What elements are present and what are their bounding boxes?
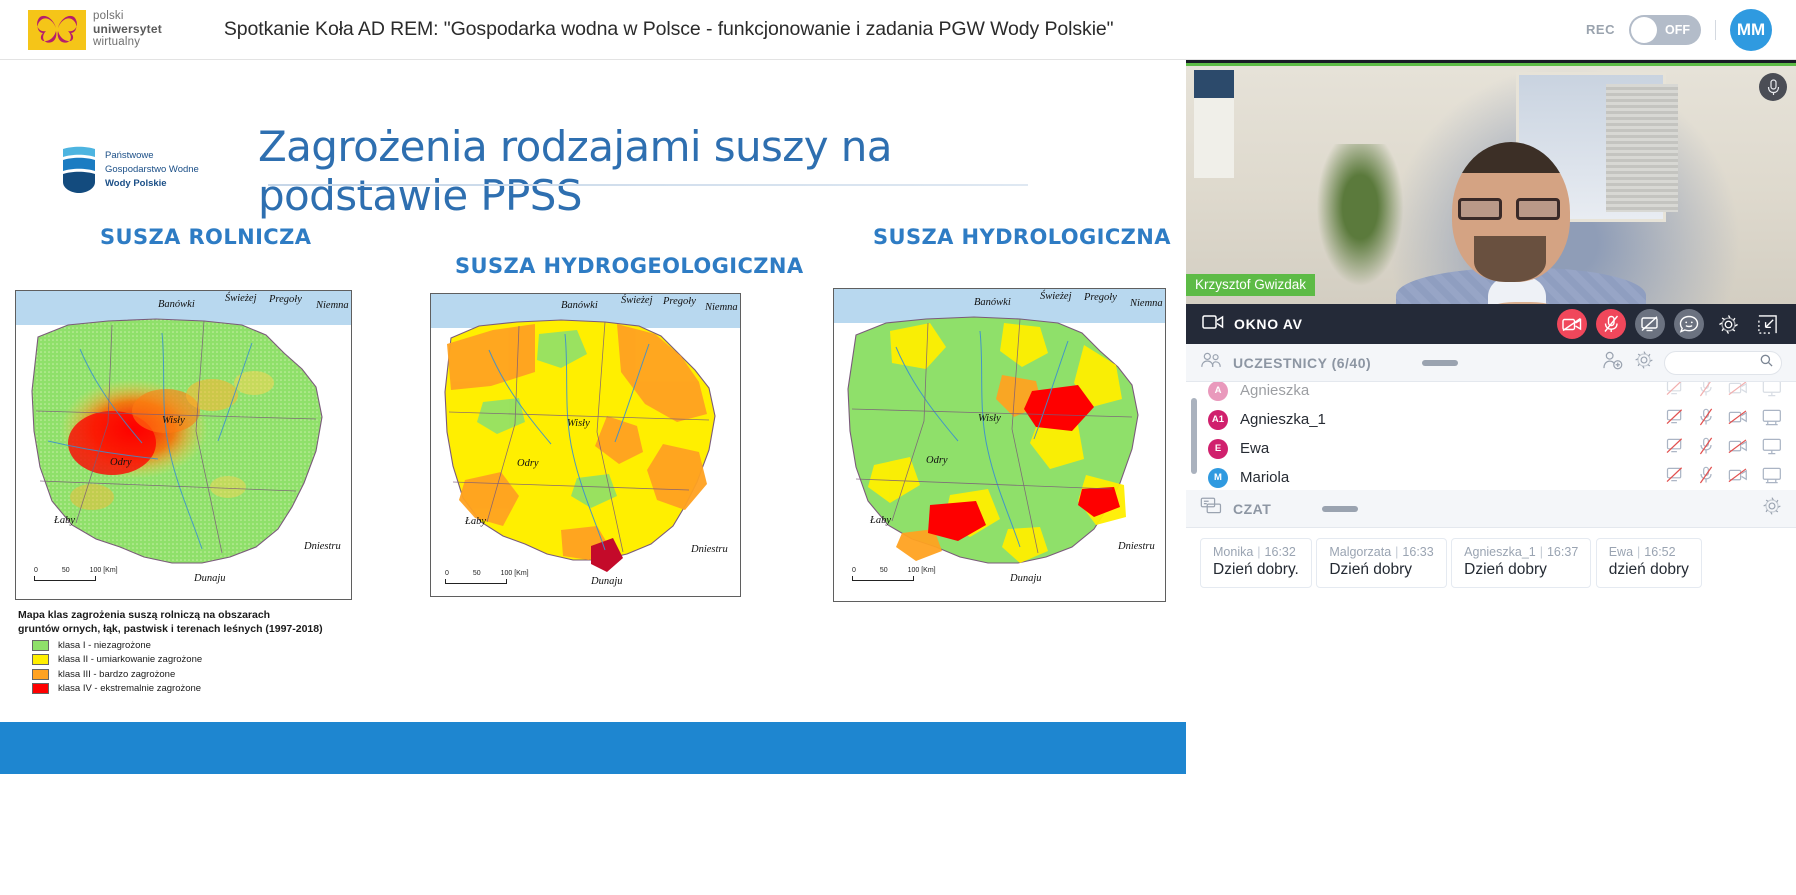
chat-author: Malgorzata xyxy=(1329,545,1391,559)
pgw-line-1: Państwowe xyxy=(105,149,199,163)
scale-bar-line xyxy=(34,576,96,581)
participant-icons xyxy=(1666,408,1782,431)
speaker-glasses xyxy=(1458,198,1564,220)
map-label-pregoly: Pregoły xyxy=(269,294,302,305)
participants-header: UCZESTNICY (6/40) xyxy=(1186,344,1796,382)
rec-toggle-knob xyxy=(1631,17,1657,43)
chat-message[interactable]: Malgorzata|16:33 Dzień dobry xyxy=(1316,538,1446,588)
chat-message-text: Dzień dobry xyxy=(1464,561,1578,579)
map-label-swiezej: Świeżej xyxy=(1040,291,1072,302)
camera-slash-icon[interactable] xyxy=(1728,410,1748,430)
map-label-odry: Odry xyxy=(517,458,539,469)
legend-item: klasa IV - ekstremalnie zagrożone xyxy=(18,683,348,694)
map-label-dunaju: Dunaju xyxy=(194,573,226,584)
search-input[interactable] xyxy=(1664,351,1782,375)
microphone-slash-icon[interactable] xyxy=(1699,408,1714,431)
map-label-banowki: Banówki xyxy=(561,300,598,311)
participants-scroll-thumb[interactable] xyxy=(1191,398,1197,474)
brand-line-2: uniwersytet xyxy=(93,23,162,36)
avatar: A1 xyxy=(1208,410,1228,430)
screen-slash-icon[interactable] xyxy=(1666,467,1685,488)
legend-title-line-2: gruntów ornych, łąk, pastwisk i terenach… xyxy=(18,622,348,636)
chat-resize-handle[interactable] xyxy=(1322,506,1358,512)
gear-icon[interactable] xyxy=(1762,496,1782,521)
chat-message[interactable]: Agnieszka_1|16:37 Dzień dobry xyxy=(1451,538,1591,588)
map-scale-bar: 0 50 100 [Km] xyxy=(34,567,118,581)
camera-slash-icon[interactable] xyxy=(1728,468,1748,488)
microphone-icon[interactable] xyxy=(1759,73,1787,101)
monitor-icon[interactable] xyxy=(1762,409,1782,431)
map-label-niemna: Niemna xyxy=(316,300,349,311)
chat-message[interactable]: Monika|16:32 Dzień dobry. xyxy=(1200,538,1312,588)
pgw-line-3: Wody Polskie xyxy=(105,177,199,191)
chat-message-text: dzień dobry xyxy=(1609,561,1689,579)
avatar: M xyxy=(1208,468,1228,488)
scale-bar-line xyxy=(445,579,507,584)
participant-icons xyxy=(1666,466,1782,489)
camera-slash-icon[interactable] xyxy=(1557,309,1587,339)
map-label-odry: Odry xyxy=(926,455,948,466)
scale-max: 100 [Km] xyxy=(90,567,118,574)
presentation-stage[interactable]: Państwowe Gospodarstwo Wodne Wody Polski… xyxy=(0,60,1186,895)
slide-title: Zagrożenia rodzajami suszy na podstawie … xyxy=(258,122,1058,220)
legend-item: klasa I - niezagrożone xyxy=(18,640,348,651)
microphone-slash-icon[interactable] xyxy=(1596,309,1626,339)
map-susza-hydrologiczna: Banówki Świeżej Pregoły Niemna Wisły Odr… xyxy=(833,288,1166,602)
participant-icons xyxy=(1666,437,1782,460)
column-heading-hydrologiczna: SUSZA HYDROLOGICZNA xyxy=(873,225,1171,249)
chat-author: Agnieszka_1 xyxy=(1464,545,1536,559)
people-icon xyxy=(1200,352,1222,373)
participant-icons xyxy=(1666,382,1782,402)
legend-label-klasa-1: klasa I - niezagrożone xyxy=(58,640,151,651)
legend-swatch-klasa-3 xyxy=(32,669,49,680)
legend-label-klasa-2: klasa II - umiarkowanie zagrożone xyxy=(58,654,202,665)
map-susza-rolnicza: Banówki Świeżej Pregoły Niemna Wisły Odr… xyxy=(15,290,352,600)
meeting-title: Spotkanie Koła AD REM: "Gospodarka wodna… xyxy=(224,18,1114,41)
slide: Państwowe Gospodarstwo Wodne Wody Polski… xyxy=(0,60,1186,722)
map-label-laby: Łaby xyxy=(54,515,75,526)
rec-toggle-state: OFF xyxy=(1665,23,1690,37)
map-label-dniestru: Dniestru xyxy=(691,544,728,555)
scale-zero: 0 xyxy=(445,570,449,577)
microphone-slash-icon[interactable] xyxy=(1699,466,1714,489)
chat-header: CZAT xyxy=(1186,490,1796,528)
brand-line-3: wirtualny xyxy=(93,36,162,49)
participant-row[interactable]: A1 Agnieszka_1 xyxy=(1186,405,1796,434)
legend-item: klasa II - umiarkowanie zagrożone xyxy=(18,654,348,665)
video-tile[interactable]: Krzysztof Gwizdak xyxy=(1186,60,1796,304)
map-label-banowki: Banówki xyxy=(158,299,195,310)
rec-toggle[interactable]: OFF xyxy=(1629,15,1701,45)
toolbar-divider xyxy=(1715,20,1716,40)
chat-title: CZAT xyxy=(1233,501,1271,517)
chat-messages[interactable]: Monika|16:32 Dzień dobry. Malgorzata|16:… xyxy=(1186,528,1796,768)
butterfly-logo-icon xyxy=(28,10,86,50)
meeting-app: polski uniwersytet wirtualny Spotkanie K… xyxy=(0,0,1796,895)
map-susza-hydrogeologiczna: Banówki Świeżej Pregoły Niemna Wisły Odr… xyxy=(430,293,741,597)
microphone-slash-icon[interactable] xyxy=(1699,437,1714,460)
map-label-dniestru: Dniestru xyxy=(304,541,341,552)
participant-name: Agnieszka_1 xyxy=(1240,411,1326,428)
avatar: E xyxy=(1208,439,1228,459)
screen-slash-icon[interactable] xyxy=(1666,438,1685,459)
scale-mid: 50 xyxy=(880,567,888,574)
map-label-dniestru: Dniestru xyxy=(1118,541,1155,552)
map-label-dunaju: Dunaju xyxy=(591,576,623,587)
scale-mid: 50 xyxy=(62,567,70,574)
gear-icon[interactable] xyxy=(1713,309,1743,339)
chat-message-meta: Agnieszka_1|16:37 xyxy=(1464,545,1578,559)
brand-logo[interactable]: polski uniwersytet wirtualny xyxy=(28,10,162,50)
participant-row[interactable]: M Mariola xyxy=(1186,463,1796,490)
legend-swatch-klasa-2 xyxy=(32,654,49,665)
map-label-wisly: Wisły xyxy=(162,415,185,426)
speaker-name-badge: Krzysztof Gwizdak xyxy=(1186,274,1315,296)
map-label-niemna: Niemna xyxy=(705,302,738,313)
participants-resize-handle[interactable] xyxy=(1422,360,1458,366)
monitor-icon[interactable] xyxy=(1762,438,1782,460)
legend-swatch-klasa-1 xyxy=(32,640,49,651)
participant-name: Ewa xyxy=(1240,440,1269,457)
legend-swatch-klasa-4 xyxy=(32,683,49,694)
user-avatar[interactable]: MM xyxy=(1730,9,1772,51)
chat-icon xyxy=(1200,497,1222,520)
chat-time: 16:32 xyxy=(1265,545,1296,559)
map-label-niemna: Niemna xyxy=(1130,298,1163,309)
top-bar-actions: REC OFF MM xyxy=(1586,9,1772,51)
monitor-icon[interactable] xyxy=(1762,382,1782,402)
smiley-icon[interactable] xyxy=(1674,309,1704,339)
map-label-wisly: Wisły xyxy=(978,413,1001,424)
screen-slash-icon[interactable] xyxy=(1635,309,1665,339)
chat-time: 16:37 xyxy=(1547,545,1578,559)
map-label-pregoly: Pregoły xyxy=(1084,292,1117,303)
participant-name: Agnieszka xyxy=(1240,382,1309,399)
chat-author: Ewa xyxy=(1609,545,1633,559)
map-label-odry: Odry xyxy=(110,457,132,468)
scale-mid: 50 xyxy=(473,570,481,577)
background-poster xyxy=(1194,70,1234,178)
chat-message-text: Dzień dobry. xyxy=(1213,561,1299,579)
map-scale-bar: 0 50 100 [Km] xyxy=(445,570,529,584)
participant-row[interactable]: A Agnieszka xyxy=(1186,382,1796,405)
monitor-icon[interactable] xyxy=(1762,467,1782,489)
legend-title-line-1: Mapa klas zagrożenia suszą rolniczą na o… xyxy=(18,608,348,622)
speaker-beard xyxy=(1474,236,1546,282)
pgw-line-2: Gospodarstwo Wodne xyxy=(105,163,199,177)
participant-name: Mariola xyxy=(1240,469,1289,486)
screen-slash-icon[interactable] xyxy=(1666,409,1685,430)
legend-label-klasa-4: klasa IV - ekstremalnie zagrożone xyxy=(58,683,201,694)
column-heading-hydrogeologiczna: SUSZA HYDROGEOLOGICZNA xyxy=(455,254,804,278)
map-label-wisly: Wisły xyxy=(567,418,590,429)
pgw-wody-polskie-logo: Państwowe Gospodarstwo Wodne Wody Polski… xyxy=(62,146,199,194)
chat-time: 16:33 xyxy=(1402,545,1433,559)
participant-row[interactable]: E Ewa xyxy=(1186,434,1796,463)
video-window-icon xyxy=(1202,314,1224,335)
camera-slash-icon[interactable] xyxy=(1728,439,1748,459)
legend-label-klasa-3: klasa III - bardzo zagrożone xyxy=(58,669,175,680)
brand-line-1: polski xyxy=(93,10,162,23)
microphone-slash-icon[interactable] xyxy=(1699,382,1714,402)
avatar: A xyxy=(1208,382,1228,401)
add-user-icon[interactable] xyxy=(1602,351,1624,375)
map-label-swiezej: Świeżej xyxy=(225,293,257,304)
video-feed xyxy=(1186,63,1796,304)
right-panel: Krzysztof Gwizdak OKNO AV xyxy=(1186,60,1796,895)
chat-message[interactable]: Ewa|16:52 dzień dobry xyxy=(1596,538,1702,588)
scale-zero: 0 xyxy=(852,567,856,574)
top-bar: polski uniwersytet wirtualny Spotkanie K… xyxy=(0,0,1796,60)
chat-message-meta: Ewa|16:52 xyxy=(1609,545,1689,559)
chat-message-meta: Malgorzata|16:33 xyxy=(1329,545,1433,559)
background-plant xyxy=(1316,144,1408,294)
map-label-laby: Łaby xyxy=(870,515,891,526)
chat-time: 16:52 xyxy=(1644,545,1675,559)
gear-icon[interactable] xyxy=(1634,350,1654,375)
map-label-swiezej: Świeżej xyxy=(621,295,653,306)
column-heading-rolnicza: SUSZA ROLNICZA xyxy=(100,225,311,249)
map-label-dunaju: Dunaju xyxy=(1010,573,1042,584)
av-window-title: OKNO AV xyxy=(1234,316,1303,332)
camera-slash-icon[interactable] xyxy=(1728,382,1748,401)
map-scale-bar: 0 50 100 [Km] xyxy=(852,567,936,581)
scale-max: 100 [Km] xyxy=(908,567,936,574)
chat-message-text: Dzień dobry xyxy=(1329,561,1433,579)
slide-bottom-band xyxy=(0,722,1186,774)
chat-author: Monika xyxy=(1213,545,1253,559)
chat-message-meta: Monika|16:32 xyxy=(1213,545,1299,559)
map-legend: Mapa klas zagrożenia suszą rolniczą na o… xyxy=(18,608,348,694)
participants-list[interactable]: A Agnieszka A1 Agnieszka_1 xyxy=(1186,382,1796,490)
rec-label: REC xyxy=(1586,22,1615,37)
legend-item: klasa III - bardzo zagrożone xyxy=(18,669,348,680)
map-label-laby: Łaby xyxy=(465,516,486,527)
screen-slash-icon[interactable] xyxy=(1666,382,1685,401)
av-window-bar: OKNO AV xyxy=(1186,304,1796,344)
participants-title: UCZESTNICY (6/40) xyxy=(1233,355,1371,371)
speaker-figure xyxy=(1396,136,1646,304)
title-underline xyxy=(268,184,1028,186)
scale-max: 100 [Km] xyxy=(501,570,529,577)
water-shield-icon xyxy=(62,146,96,194)
search-icon xyxy=(1760,354,1773,372)
map-label-banowki: Banówki xyxy=(974,297,1011,308)
map-label-pregoly: Pregoły xyxy=(663,296,696,307)
scale-zero: 0 xyxy=(34,567,38,574)
collapse-icon[interactable] xyxy=(1752,309,1782,339)
scale-bar-line xyxy=(852,576,914,581)
